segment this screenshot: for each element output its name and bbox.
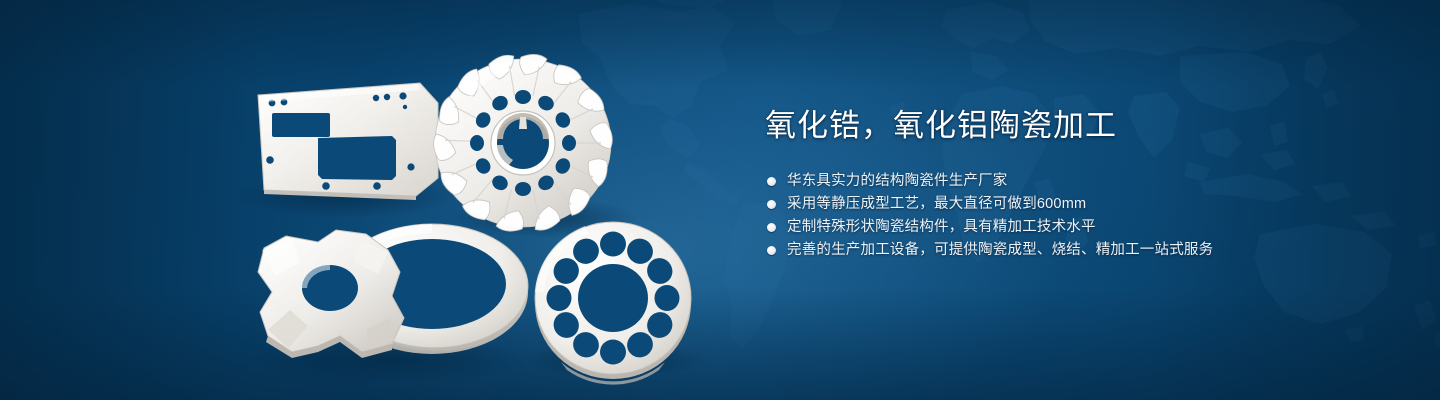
dot-bullet-icon	[767, 246, 776, 255]
ceramic-products-image	[0, 0, 720, 400]
feature-text: 完善的生产加工设备，可提供陶瓷成型、烧结、精加工一站式服务	[787, 239, 1213, 262]
list-item: 华东具实力的结构陶瓷件生产厂家	[765, 170, 1385, 193]
ceramic-hero-banner: 氧化锆，氧化铝陶瓷加工 华东具实力的结构陶瓷件生产厂家 采用等静压成型工艺，最大…	[0, 0, 1440, 400]
page-title: 氧化锆，氧化铝陶瓷加工	[765, 104, 1385, 148]
dot-bullet-icon	[767, 200, 776, 209]
list-item: 定制特殊形状陶瓷结构件，具有精加工技术水平	[765, 216, 1385, 239]
feature-text: 采用等静压成型工艺，最大直径可做到600mm	[787, 193, 1086, 216]
list-item: 完善的生产加工设备，可提供陶瓷成型、烧结、精加工一站式服务	[765, 239, 1385, 262]
feature-text: 定制特殊形状陶瓷结构件，具有精加工技术水平	[787, 216, 1096, 239]
banner-copy-block: 氧化锆，氧化铝陶瓷加工 华东具实力的结构陶瓷件生产厂家 采用等静压成型工艺，最大…	[765, 104, 1385, 262]
ceramic-cross-part	[258, 230, 404, 358]
list-item: 采用等静压成型工艺，最大直径可做到600mm	[765, 193, 1385, 216]
feature-text: 华东具实力的结构陶瓷件生产厂家	[787, 170, 1008, 193]
dot-bullet-icon	[767, 223, 776, 232]
dot-bullet-icon	[767, 177, 776, 186]
ceramic-plate-part	[258, 83, 438, 200]
feature-list: 华东具实力的结构陶瓷件生产厂家 采用等静压成型工艺，最大直径可做到600mm 定…	[765, 170, 1385, 262]
